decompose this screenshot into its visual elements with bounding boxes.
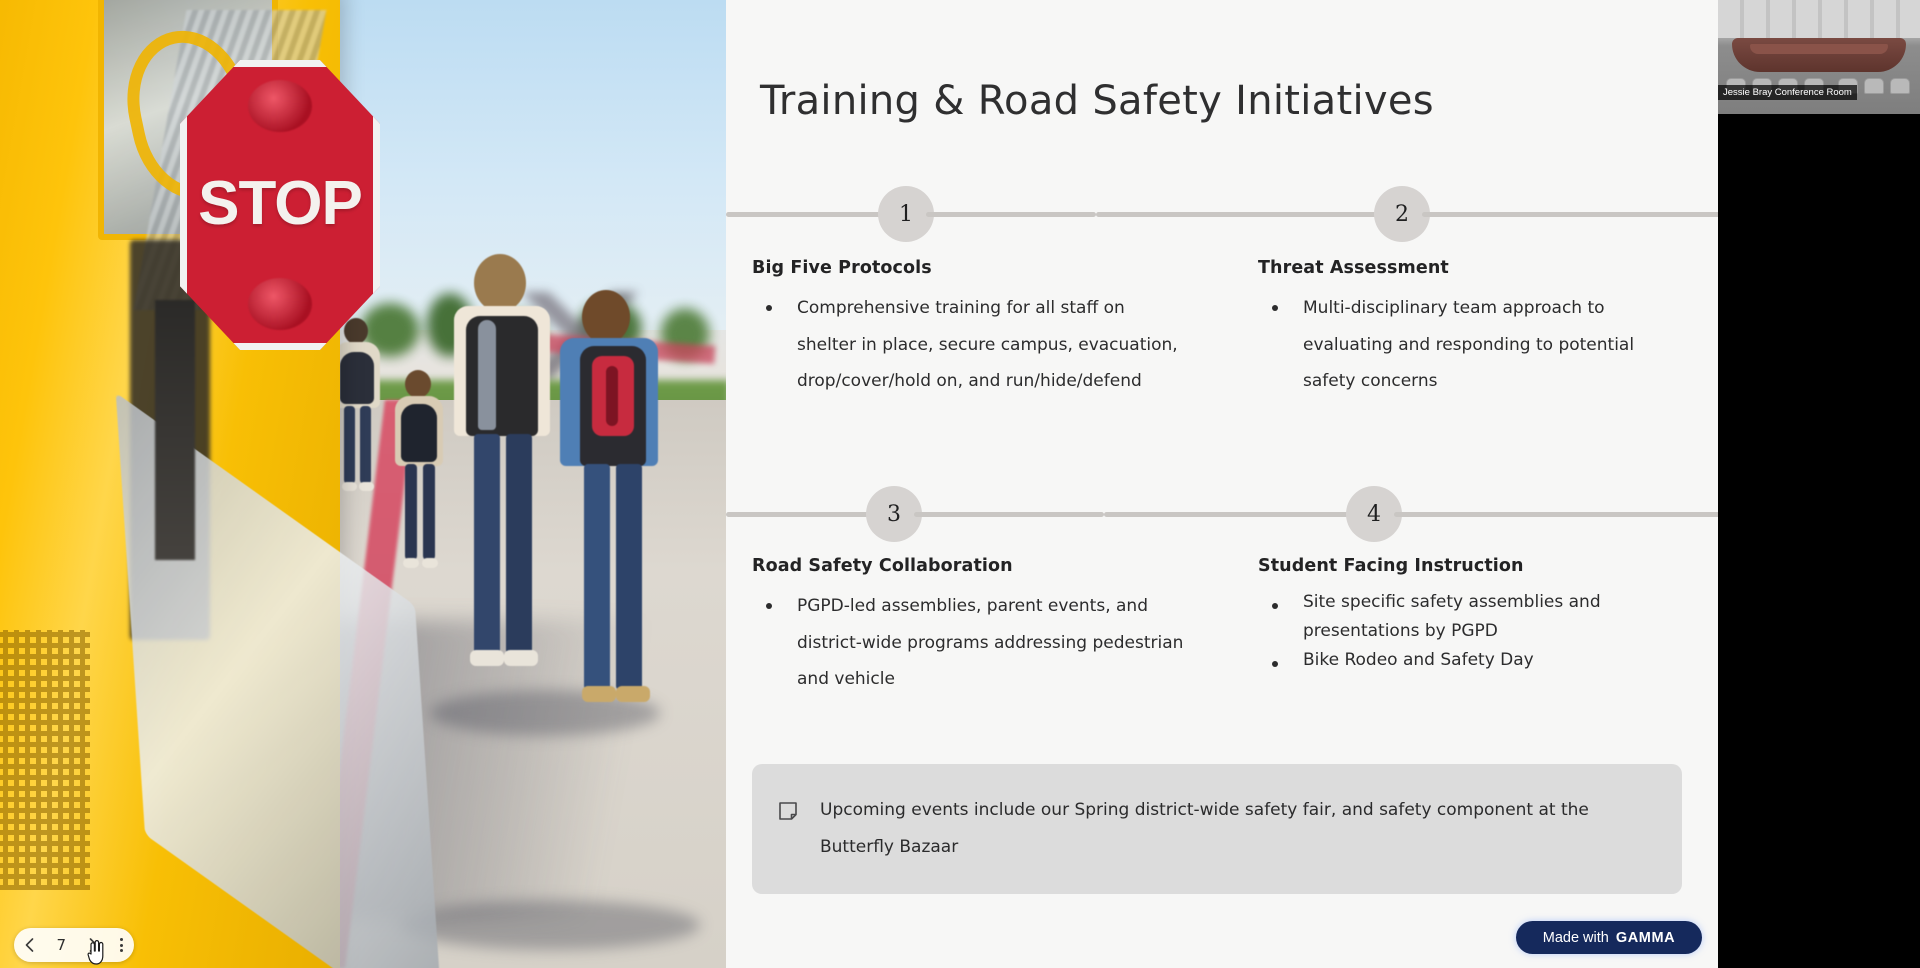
page-number: 7 [56, 936, 66, 954]
app-root: STOP 7 Training & Road Safety [0, 0, 1920, 968]
step-track-right [1422, 212, 1718, 217]
step-marker-2: 2 [1222, 186, 1718, 242]
made-with-gamma-badge[interactable]: Made with GAMMA [1516, 921, 1702, 954]
section-heading: Road Safety Collaboration [752, 556, 1188, 576]
child-shadow [400, 900, 700, 950]
participant-rail: Jessie Bray Conference Room [1718, 0, 1920, 968]
section-heading: Big Five Protocols [752, 258, 1188, 278]
slide-content: Training & Road Safety Initiatives 1 2 B… [726, 0, 1718, 968]
page-navigation-pill[interactable]: 7 [14, 928, 134, 962]
sticky-note-icon [778, 801, 798, 825]
stop-sign-lamp-bottom [248, 278, 312, 330]
step-content-row-2: Road Safety Collaboration PGPD-led assem… [726, 556, 1718, 698]
stop-sign: STOP [180, 60, 380, 350]
callout-text: Upcoming events include our Spring distr… [820, 792, 1652, 865]
step-content-row-1: Big Five Protocols Comprehensive trainin… [726, 258, 1718, 400]
participant-video-tile[interactable]: Jessie Bray Conference Room [1718, 0, 1920, 114]
list-item: Site specific safety assemblies and pres… [1258, 588, 1684, 646]
chair [1864, 78, 1884, 94]
bus-grill [0, 630, 90, 890]
step-markers-row-2: 3 4 [726, 486, 1718, 542]
step-column-2: Threat Assessment Multi-disciplinary tea… [1222, 258, 1718, 400]
step-column-1: Big Five Protocols Comprehensive trainin… [726, 258, 1222, 400]
list-item: Comprehensive training for all staff on … [752, 290, 1188, 400]
bullet-list: Site specific safety assemblies and pres… [1258, 588, 1684, 676]
list-item: Multi-disciplinary team approach to eval… [1258, 290, 1684, 400]
bullet-list: PGPD-led assemblies, parent events, and … [752, 588, 1188, 698]
slide-photo: STOP 7 [0, 0, 726, 968]
page-title: Training & Road Safety Initiatives [726, 78, 1718, 124]
step-markers-row-1: 1 2 [726, 186, 1718, 242]
chair [1890, 78, 1910, 94]
step-track-right [914, 512, 1104, 517]
conference-table [1732, 38, 1906, 72]
participant-name-label: Jessie Bray Conference Room [1718, 85, 1857, 100]
bullet-list: Comprehensive training for all staff on … [752, 290, 1188, 400]
chevron-left-icon[interactable] [25, 938, 34, 952]
stop-sign-lamp-top [248, 80, 312, 132]
step-column-3: Road Safety Collaboration PGPD-led assem… [726, 556, 1222, 698]
section-heading: Threat Assessment [1258, 258, 1684, 278]
step-marker-4: 4 [1222, 486, 1718, 542]
list-item: Bike Rodeo and Safety Day [1258, 646, 1684, 675]
gamma-brand: GAMMA [1616, 930, 1675, 946]
chevron-right-icon[interactable] [89, 938, 98, 952]
step-track-right [1394, 512, 1718, 517]
more-vertical-icon[interactable] [120, 938, 123, 952]
room-wall [1718, 0, 1920, 38]
gamma-prefix: Made with [1543, 930, 1609, 946]
presentation-stage: STOP 7 Training & Road Safety [0, 0, 1718, 968]
bullet-list: Multi-disciplinary team approach to eval… [1258, 290, 1684, 400]
stop-sign-text: STOP [180, 173, 380, 235]
step-column-4: Student Facing Instruction Site specific… [1222, 556, 1718, 698]
callout-box: Upcoming events include our Spring distr… [752, 764, 1682, 894]
section-heading: Student Facing Instruction [1258, 556, 1684, 576]
list-item: PGPD-led assemblies, parent events, and … [752, 588, 1188, 698]
step-track-right [926, 212, 1096, 217]
